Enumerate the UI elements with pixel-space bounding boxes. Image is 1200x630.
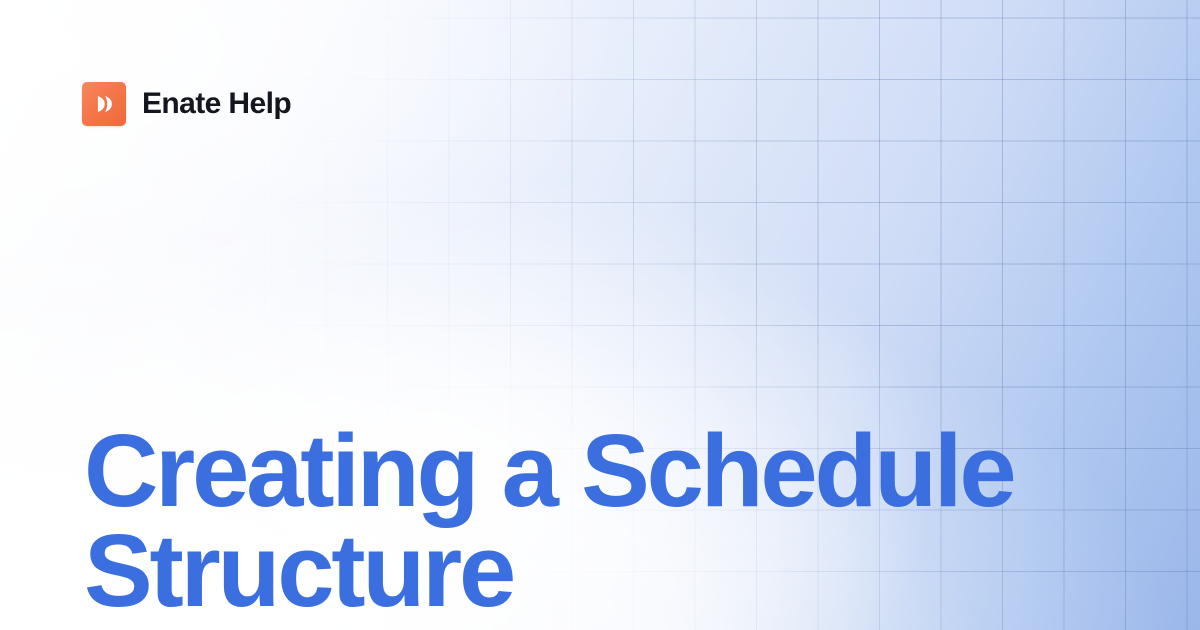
share-card: Enate Help Creating a Schedule Structure xyxy=(0,0,1200,630)
brand-lockup: Enate Help xyxy=(82,82,291,126)
page-title-line-1: Creating a Schedule xyxy=(84,421,1084,521)
enate-logo-icon xyxy=(82,82,126,126)
page-title-line-2: Structure xyxy=(84,521,1084,621)
page-title: Creating a Schedule Structure xyxy=(84,421,1084,621)
brand-name: Enate Help xyxy=(142,89,291,119)
